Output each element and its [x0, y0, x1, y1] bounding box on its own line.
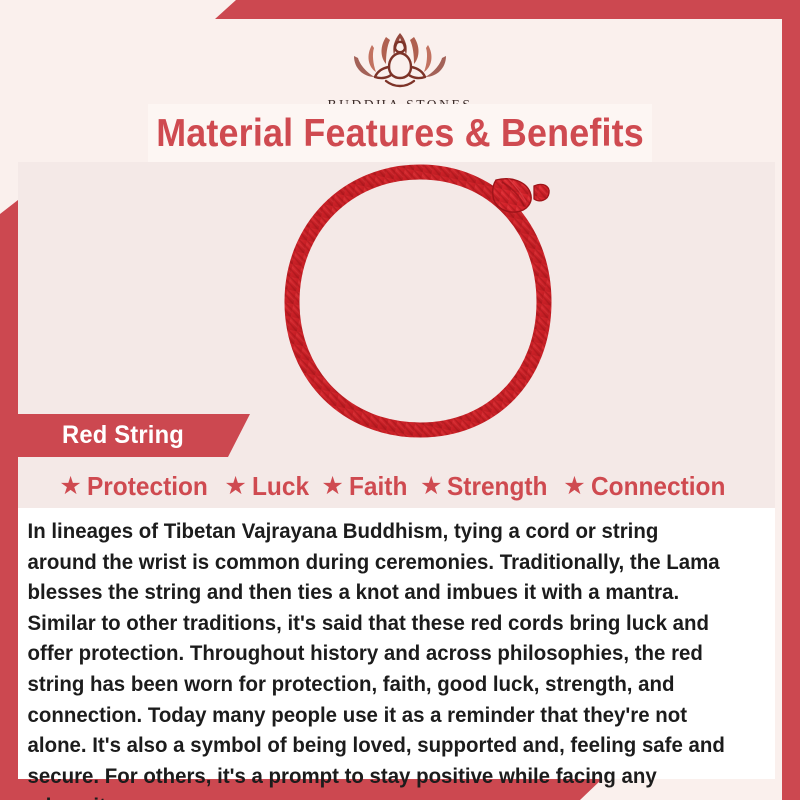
page-title: Material Features & Benefits [156, 114, 644, 153]
benefit-item-connection: ★ Connection [563, 471, 733, 502]
title-banner: Material Features & Benefits [148, 104, 652, 162]
decorative-top-border [0, 0, 800, 19]
benefit-label: Connection [591, 471, 725, 502]
red-string-bracelet-image [250, 162, 590, 462]
benefit-item-faith: ★ Faith [321, 471, 411, 502]
product-label-banner: Red String [0, 414, 250, 457]
benefit-label: Faith [349, 471, 407, 502]
infographic-card: BUDDHA STONES Material Features & Benefi… [0, 0, 800, 800]
bracelet-sliding-knot [493, 178, 549, 212]
star-icon: ★ [420, 474, 442, 499]
decorative-left-border [0, 200, 18, 800]
benefit-label: Luck [252, 471, 309, 502]
benefit-label: Strength [447, 471, 547, 502]
benefits-row: ★ Protection ★ Luck ★ Faith ★ Strength ★… [18, 467, 775, 505]
product-label: Red String [62, 421, 184, 450]
benefit-item-strength: ★ Strength [420, 471, 554, 502]
star-icon: ★ [563, 474, 585, 499]
description-panel: In lineages of Tibetan Vajrayana Buddhis… [18, 508, 775, 779]
decorative-right-border [782, 0, 800, 800]
benefit-label: Protection [87, 471, 208, 502]
description-text: In lineages of Tibetan Vajrayana Buddhis… [18, 508, 741, 800]
star-icon: ★ [59, 474, 81, 499]
lotus-meditation-figure-icon [334, 20, 466, 94]
brand-logo: BUDDHA STONES [0, 20, 800, 113]
star-icon: ★ [321, 474, 343, 499]
star-icon: ★ [224, 474, 246, 499]
benefit-item-luck: ★ Luck [224, 471, 312, 502]
benefit-item-protection: ★ Protection [59, 471, 215, 502]
